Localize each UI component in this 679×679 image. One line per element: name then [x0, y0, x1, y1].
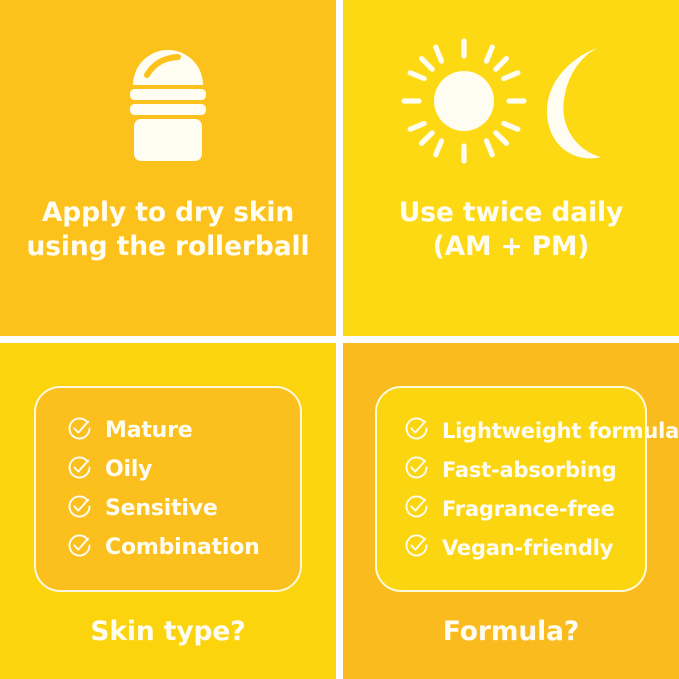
check-circle-icon	[67, 533, 92, 562]
check-circle-icon	[67, 494, 92, 523]
list-item-label: Fast-absorbing	[442, 458, 616, 482]
check-circle-icon	[404, 416, 429, 445]
list-item[interactable]: Sensitive	[67, 489, 300, 528]
skin-type-checklist: Mature Oily Sensitive	[34, 386, 302, 592]
panel-apply-to-dry-skin: Apply to dry skin using the rollerball	[0, 0, 336, 336]
caption-line-2: (AM + PM)	[353, 230, 669, 264]
check-circle-icon	[67, 455, 92, 484]
list-item-label: Lightweight formula	[442, 419, 679, 443]
list-item[interactable]: Vegan-friendly	[404, 528, 645, 567]
caption-line-1: Apply to dry skin	[10, 196, 326, 230]
list-item[interactable]: Fast-absorbing	[404, 450, 645, 489]
check-circle-icon	[67, 416, 92, 445]
list-item-label: Fragrance-free	[442, 497, 615, 521]
check-circle-icon	[404, 533, 429, 562]
list-item-label: Mature	[105, 418, 193, 443]
list-item-label: Combination	[105, 535, 260, 560]
list-item-label: Oily	[105, 457, 152, 482]
list-item-label: Vegan-friendly	[442, 536, 613, 560]
caption-line-1: Use twice daily	[353, 196, 669, 230]
check-circle-icon	[404, 455, 429, 484]
sun-icon	[404, 41, 524, 161]
list-item[interactable]: Combination	[67, 528, 300, 567]
panel-apply-caption: Apply to dry skin using the rollerball	[0, 196, 336, 264]
formula-caption: Formula?	[343, 616, 679, 647]
list-item[interactable]: Oily	[67, 450, 300, 489]
list-item[interactable]: Lightweight formula	[404, 411, 645, 450]
caption-line-2: using the rollerball	[10, 230, 326, 264]
panel-formula: Lightweight formula Fast-absorbing	[343, 343, 679, 679]
list-item[interactable]: Fragrance-free	[404, 489, 645, 528]
formula-checklist: Lightweight formula Fast-absorbing	[375, 386, 647, 592]
panel-skin-type: Mature Oily Sensitive	[0, 343, 336, 679]
crescent-moon-icon	[547, 48, 601, 158]
sun-and-moon-icon-group	[343, 0, 679, 196]
panel-use-twice-daily: Use twice daily (AM + PM)	[343, 0, 679, 336]
panel-daily-caption: Use twice daily (AM + PM)	[343, 196, 679, 264]
rollerball-deodorant-icon	[0, 0, 336, 196]
list-item[interactable]: Mature	[67, 411, 300, 450]
check-circle-icon	[404, 494, 429, 523]
list-item-label: Sensitive	[105, 496, 218, 521]
skin-type-caption: Skin type?	[0, 616, 336, 647]
infographic-grid: Apply to dry skin using the rollerball	[0, 0, 679, 679]
